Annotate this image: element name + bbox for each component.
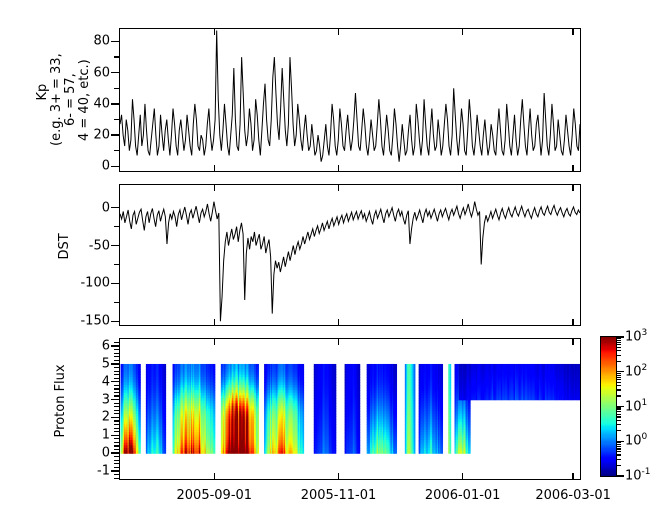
tick-mark bbox=[617, 465, 621, 466]
tick-mark bbox=[617, 355, 621, 356]
tick-mark bbox=[214, 28, 215, 35]
tick-mark bbox=[617, 448, 621, 449]
tick-mark bbox=[617, 389, 621, 390]
tick-mark bbox=[617, 446, 621, 447]
tick-mark bbox=[114, 395, 119, 396]
colorbar-tick-exponent: -1 bbox=[642, 467, 651, 477]
dst-line-series bbox=[120, 185, 580, 325]
tick-mark bbox=[114, 378, 119, 379]
tick-mark bbox=[617, 373, 621, 374]
axis-tick-label: 0 bbox=[0, 159, 110, 174]
flux-heatmap-cells bbox=[120, 339, 580, 479]
tick-mark bbox=[462, 473, 463, 480]
tick-mark bbox=[617, 475, 624, 476]
tick-mark bbox=[111, 72, 119, 73]
tick-mark bbox=[114, 388, 119, 389]
colorbar bbox=[600, 336, 617, 477]
tick-mark bbox=[617, 361, 621, 362]
tick-mark bbox=[111, 41, 119, 42]
tick-mark bbox=[114, 226, 119, 227]
tick-mark bbox=[114, 413, 119, 414]
colorbar-tick-exponent: 2 bbox=[642, 363, 648, 373]
tick-mark bbox=[462, 184, 463, 191]
tick-mark bbox=[617, 379, 621, 380]
axis-tick-label: -50 bbox=[0, 238, 110, 253]
tick-mark bbox=[114, 410, 119, 411]
tick-mark bbox=[617, 444, 621, 445]
tick-mark bbox=[111, 166, 119, 167]
x-axis-tick-label: 2005-11-01 bbox=[301, 488, 377, 503]
axis-tick-label: 40 bbox=[0, 96, 110, 111]
tick-mark bbox=[114, 356, 119, 357]
axis-tick-label: 0 bbox=[0, 200, 110, 215]
colorbar-tick-exponent: 0 bbox=[642, 432, 648, 442]
tick-mark bbox=[617, 442, 621, 443]
axis-tick-label: 4 bbox=[0, 374, 110, 389]
tick-mark bbox=[617, 414, 621, 415]
colorbar-tick-mantissa: 10 bbox=[625, 364, 642, 379]
tick-mark bbox=[114, 385, 119, 386]
axis-tick-label: -100 bbox=[0, 276, 110, 291]
colorbar-tick-label: 100 bbox=[625, 434, 647, 449]
tick-mark bbox=[114, 367, 119, 368]
tick-mark bbox=[214, 338, 215, 345]
proton-flux-heatmap bbox=[120, 339, 580, 479]
tick-mark bbox=[114, 56, 119, 57]
tick-mark bbox=[111, 207, 119, 208]
tick-mark bbox=[617, 420, 621, 421]
tick-mark bbox=[114, 428, 119, 429]
tick-mark bbox=[114, 342, 119, 343]
tick-mark bbox=[572, 319, 573, 326]
tick-mark bbox=[214, 473, 215, 480]
tick-mark bbox=[114, 360, 119, 361]
tick-mark bbox=[338, 338, 339, 345]
tick-mark bbox=[114, 424, 119, 425]
tick-mark bbox=[111, 245, 119, 246]
tick-mark bbox=[462, 338, 463, 345]
tick-mark bbox=[617, 411, 621, 412]
tick-mark bbox=[462, 319, 463, 326]
tick-mark bbox=[111, 134, 119, 135]
tick-mark bbox=[338, 184, 339, 191]
tick-mark bbox=[114, 467, 119, 468]
tick-mark bbox=[114, 374, 119, 375]
tick-mark bbox=[338, 28, 339, 35]
tick-mark bbox=[617, 377, 621, 378]
tick-mark bbox=[111, 345, 119, 346]
tick-mark bbox=[617, 407, 621, 408]
tick-mark bbox=[617, 385, 621, 386]
tick-mark bbox=[114, 353, 119, 354]
tick-mark bbox=[338, 165, 339, 172]
tick-mark bbox=[114, 478, 119, 479]
colorbar-tick-exponent: 3 bbox=[642, 328, 648, 338]
tick-mark bbox=[114, 349, 119, 350]
tick-mark bbox=[114, 463, 119, 464]
tick-mark bbox=[572, 473, 573, 480]
tick-mark bbox=[114, 403, 119, 404]
tick-mark bbox=[617, 451, 621, 452]
colorbar-tick-exponent: 1 bbox=[642, 398, 648, 408]
axis-tick-label: 5 bbox=[0, 356, 110, 371]
kp-line-series bbox=[120, 29, 580, 171]
tick-mark bbox=[462, 165, 463, 172]
tick-mark bbox=[338, 473, 339, 480]
tick-mark bbox=[617, 340, 621, 341]
tick-mark bbox=[114, 456, 119, 457]
tick-mark bbox=[617, 454, 621, 455]
tick-mark bbox=[111, 321, 119, 322]
tick-mark bbox=[114, 460, 119, 461]
axis-tick-label: -1 bbox=[0, 463, 110, 478]
tick-mark bbox=[114, 420, 119, 421]
tick-mark bbox=[572, 165, 573, 172]
colorbar-tick-label: 102 bbox=[625, 364, 647, 379]
x-axis-tick-label: 2006-01-01 bbox=[425, 488, 501, 503]
tick-mark bbox=[617, 395, 621, 396]
colorbar-tick-label: 10-1 bbox=[625, 469, 651, 484]
tick-mark bbox=[114, 119, 119, 120]
colorbar-tick-label: 101 bbox=[625, 399, 647, 414]
x-axis-tick-label: 2005-09-01 bbox=[177, 488, 253, 503]
tick-mark bbox=[111, 399, 119, 400]
tick-mark bbox=[114, 442, 119, 443]
tick-mark bbox=[114, 438, 119, 439]
tick-mark bbox=[214, 319, 215, 326]
tick-mark bbox=[111, 470, 119, 471]
tick-mark bbox=[572, 338, 573, 345]
tick-mark bbox=[617, 344, 621, 345]
tick-mark bbox=[114, 264, 119, 265]
tick-mark bbox=[617, 424, 621, 425]
colorbar-band bbox=[601, 475, 616, 477]
axis-tick-label: 6 bbox=[0, 339, 110, 354]
tick-mark bbox=[114, 371, 119, 372]
axis-tick-label: 0 bbox=[0, 446, 110, 461]
tick-mark bbox=[111, 417, 119, 418]
tick-mark bbox=[572, 184, 573, 191]
tick-mark bbox=[111, 103, 119, 104]
tick-mark bbox=[617, 347, 621, 348]
tick-mark bbox=[617, 342, 621, 343]
tick-mark bbox=[617, 382, 621, 383]
tick-mark bbox=[617, 409, 621, 410]
kp-plot-area bbox=[120, 29, 580, 171]
tick-mark bbox=[114, 392, 119, 393]
tick-mark bbox=[114, 431, 119, 432]
tick-mark bbox=[114, 150, 119, 151]
tick-mark bbox=[617, 350, 621, 351]
figure-root: Kp (e.g. 3+ = 33, 6- = 57, 4 = 40, etc.)… bbox=[0, 0, 665, 523]
tick-mark bbox=[214, 184, 215, 191]
axis-tick-label: 2 bbox=[0, 410, 110, 425]
tick-mark bbox=[617, 338, 621, 339]
x-axis-tick-label: 2006-03-01 bbox=[535, 488, 611, 503]
tick-mark bbox=[114, 445, 119, 446]
tick-mark bbox=[111, 283, 119, 284]
tick-mark bbox=[338, 319, 339, 326]
tick-mark bbox=[114, 474, 119, 475]
tick-mark bbox=[111, 381, 119, 382]
tick-mark bbox=[617, 375, 621, 376]
axis-tick-label: 3 bbox=[0, 392, 110, 407]
tick-mark bbox=[572, 28, 573, 35]
tick-mark bbox=[462, 28, 463, 35]
tick-mark bbox=[617, 459, 621, 460]
axis-tick-label: 1 bbox=[0, 428, 110, 443]
tick-mark bbox=[114, 449, 119, 450]
tick-mark bbox=[617, 430, 621, 431]
tick-mark bbox=[111, 452, 119, 453]
tick-mark bbox=[114, 302, 119, 303]
tick-mark bbox=[114, 406, 119, 407]
tick-mark bbox=[114, 88, 119, 89]
tick-mark bbox=[617, 416, 621, 417]
colorbar-tick-mantissa: 10 bbox=[625, 434, 642, 449]
tick-mark bbox=[111, 435, 119, 436]
colorbar-tick-mantissa: 10 bbox=[625, 330, 642, 345]
tick-mark bbox=[111, 363, 119, 364]
axis-tick-label: 60 bbox=[0, 65, 110, 80]
colorbar-tick-mantissa: 10 bbox=[625, 399, 642, 414]
dst-plot-area bbox=[120, 185, 580, 325]
colorbar-tick-label: 103 bbox=[625, 330, 647, 345]
axis-tick-label: 20 bbox=[0, 128, 110, 143]
tick-mark bbox=[214, 165, 215, 172]
axis-tick-label: 80 bbox=[0, 34, 110, 49]
axis-tick-label: -150 bbox=[0, 314, 110, 329]
colorbar-tick-mantissa: 10 bbox=[625, 469, 642, 484]
